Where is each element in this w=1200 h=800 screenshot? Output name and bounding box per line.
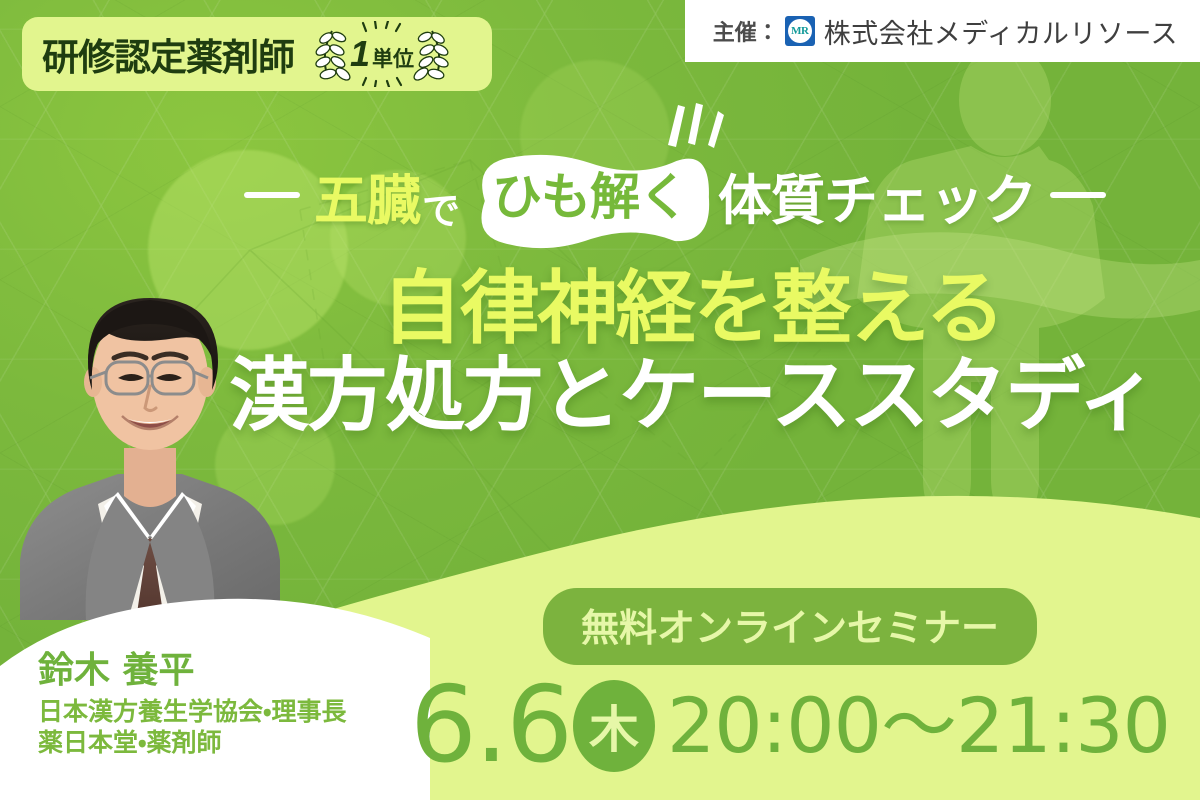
event-date: 6.6 [410,677,571,774]
free-seminar-badge: 無料オンラインセミナー [543,588,1037,665]
event-day-of-week: 木 [573,680,655,772]
seminar-banner: 研修認定薬剤師 [0,0,1200,800]
event-details: 無料オンラインセミナー 6.6 木 20:00〜21:30 [410,588,1170,774]
speaker-role-line-2: 薬日本堂・薬剤師 [38,727,347,758]
credential-unit-number: 1 [350,36,370,72]
subtitle-highlight-blob: ひも解く [466,151,714,239]
speaker-portrait-image [0,200,300,620]
subtitle-part-a: 五臓 [314,156,420,235]
event-time: 20:00〜21:30 [667,688,1170,764]
event-date-row: 6.6 木 20:00〜21:30 [410,677,1170,774]
title-line-2: 漢方処方とケーススタディ [185,354,1200,438]
mr-logo-icon: MR [785,16,815,46]
organizer-name: 株式会社メディカルリソース [824,12,1178,51]
subtitle-part-b: 体質チェック [718,156,1036,235]
title-line-1: 自律神経を整える [185,268,1200,350]
mr-logo-text: MR [791,25,808,37]
subtitle-particle: で [422,180,460,240]
speaker-info: 鈴木 養平 日本漢方養生学協会・理事長 薬日本堂・薬剤師 [38,651,347,758]
credential-title: 研修認定薬剤師 [42,27,294,81]
speaker-portrait [0,200,300,620]
organizer-label: 主催： [713,15,779,47]
credential-badge: 研修認定薬剤師 [22,17,492,91]
subtitle-highlight-text: ひも解く [492,157,688,229]
dash-left-icon [244,192,300,198]
laurel-wreath-icon: 1 単位 [306,21,458,87]
sparkle-icon [658,99,728,159]
speaker-name: 鈴木 養平 [38,651,347,691]
organizer-bar: 主催： MR 株式会社メディカルリソース [685,0,1200,62]
speaker-role-line-1: 日本漢方養生学協会・理事長 [38,696,347,727]
dash-right-icon [1050,192,1106,198]
credential-unit-label: 単位 [372,43,414,73]
